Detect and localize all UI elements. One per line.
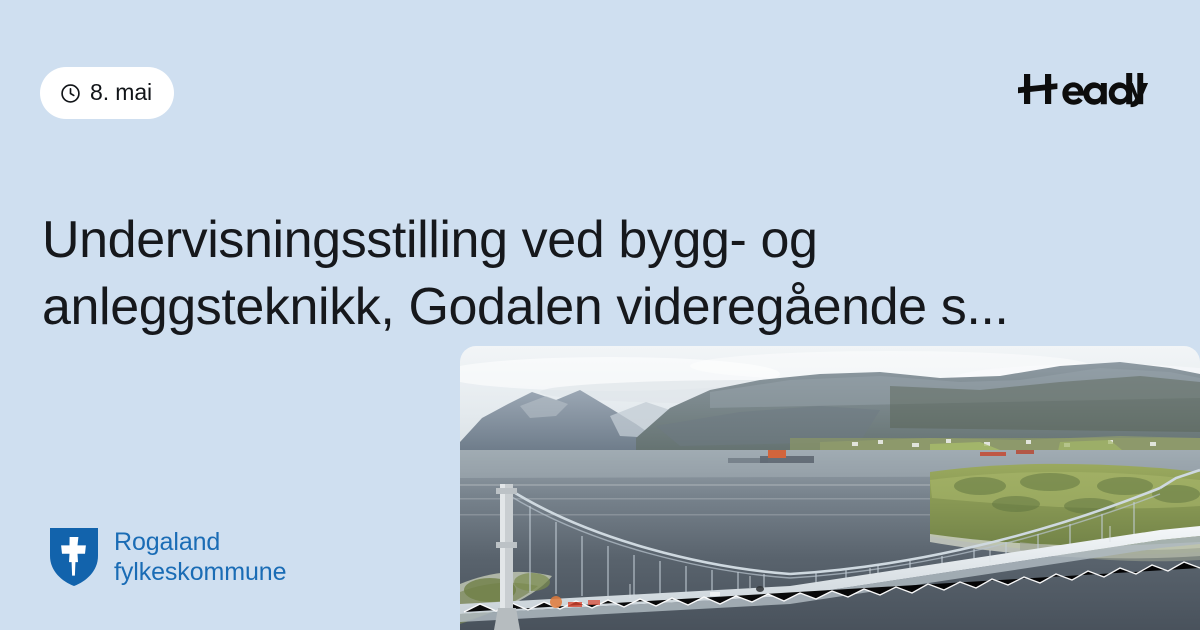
headly-wordmark-icon bbox=[1018, 68, 1160, 110]
date-label: 8. mai bbox=[90, 81, 152, 105]
date-badge: 8. mai bbox=[40, 67, 174, 119]
social-share-card: 8. mai Undervisningsstilling ve bbox=[0, 0, 1200, 630]
publisher-name: Rogaland fylkeskommune bbox=[114, 527, 286, 588]
shield-with-cross-icon bbox=[48, 526, 100, 588]
fjord-bridge-photo bbox=[460, 346, 1200, 630]
headly-logo bbox=[1018, 62, 1160, 116]
article-hero-image bbox=[460, 346, 1200, 630]
publisher-logo: Rogaland fylkeskommune bbox=[48, 526, 286, 588]
article-title: Undervisningsstilling ved bygg- og anleg… bbox=[42, 207, 1112, 342]
clock-icon bbox=[60, 83, 81, 104]
